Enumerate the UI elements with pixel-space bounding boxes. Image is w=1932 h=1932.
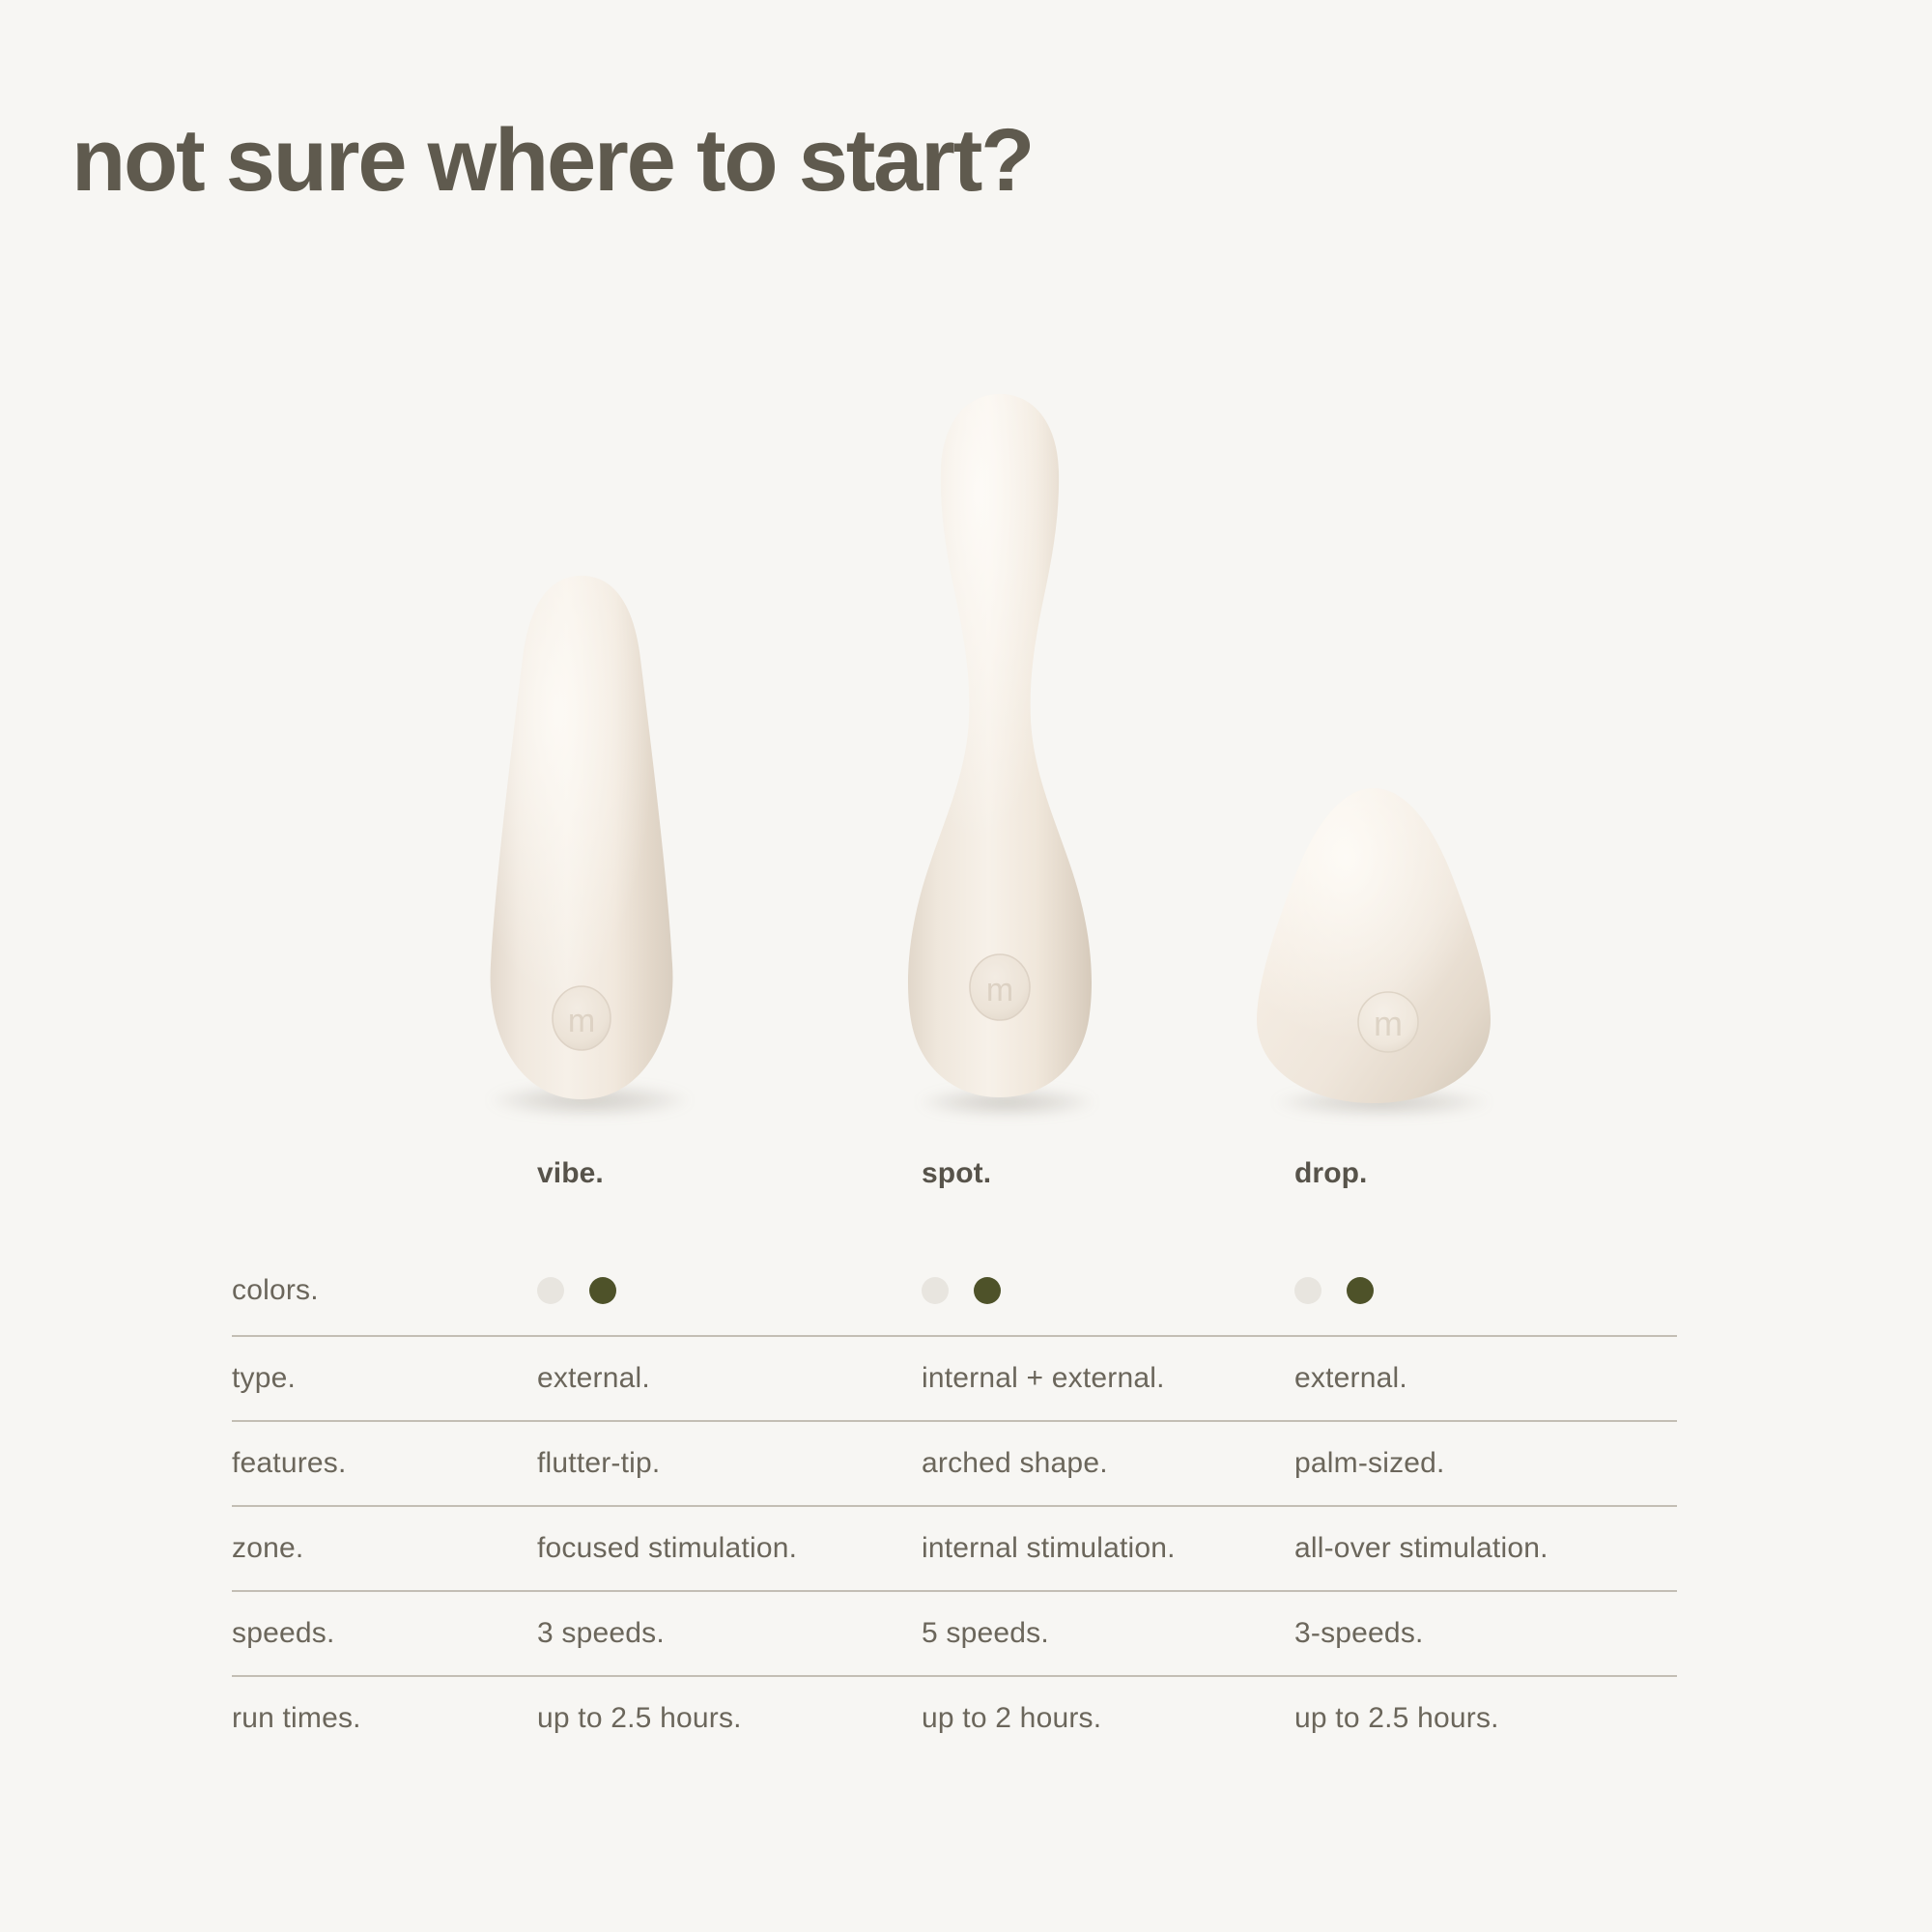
color-swatches-drop xyxy=(1294,1246,1374,1335)
cell-run-times-vibe: up to 2.5 hours. xyxy=(537,1677,742,1760)
svg-text:m: m xyxy=(986,972,1013,1009)
cell-type-vibe: external. xyxy=(537,1337,650,1420)
table-row: features. flutter-tip. arched shape. pal… xyxy=(232,1422,1677,1507)
table-row: colors. xyxy=(232,1246,1677,1337)
cell-speeds-drop: 3-speeds. xyxy=(1294,1592,1424,1675)
cell-zone-vibe: focused stimulation. xyxy=(537,1507,797,1590)
cell-features-drop: palm-sized. xyxy=(1294,1422,1445,1505)
drop-power-button: m xyxy=(1358,992,1418,1052)
vibe-shape-svg: m xyxy=(437,570,726,1111)
product-image-stage: m xyxy=(0,319,1932,1111)
row-label-features: features. xyxy=(232,1422,347,1505)
cell-type-spot: internal + external. xyxy=(922,1337,1165,1420)
spot-shape-svg: m xyxy=(874,388,1125,1111)
vibe-power-button: m xyxy=(553,986,611,1050)
row-label-type: type. xyxy=(232,1337,296,1420)
column-header-spot: spot. xyxy=(922,1157,991,1190)
product-image-vibe[interactable]: m xyxy=(437,570,726,1111)
table-row: run times. up to 2.5 hours. up to 2 hour… xyxy=(232,1677,1677,1760)
swatch-cream[interactable] xyxy=(537,1277,564,1304)
cell-speeds-vibe: 3 speeds. xyxy=(537,1592,665,1675)
table-row: type. external. internal + external. ext… xyxy=(232,1337,1677,1422)
page-title: not sure where to start? xyxy=(71,114,1033,208)
product-image-drop[interactable]: m xyxy=(1243,782,1504,1111)
cell-speeds-spot: 5 speeds. xyxy=(922,1592,1049,1675)
cell-type-drop: external. xyxy=(1294,1337,1407,1420)
color-swatches-vibe xyxy=(537,1246,616,1335)
row-label-speeds: speeds. xyxy=(232,1592,334,1675)
swatch-olive[interactable] xyxy=(974,1277,1001,1304)
swatch-olive[interactable] xyxy=(589,1277,616,1304)
product-image-spot[interactable]: m xyxy=(874,388,1125,1111)
spot-power-button: m xyxy=(970,954,1030,1020)
swatch-cream[interactable] xyxy=(922,1277,949,1304)
row-label-zone: zone. xyxy=(232,1507,303,1590)
cell-features-vibe: flutter-tip. xyxy=(537,1422,660,1505)
swatch-olive[interactable] xyxy=(1347,1277,1374,1304)
table-row: zone. focused stimulation. internal stim… xyxy=(232,1507,1677,1592)
row-label-colors: colors. xyxy=(232,1246,319,1335)
drop-shape-svg: m xyxy=(1243,782,1504,1111)
color-swatches-spot xyxy=(922,1246,1001,1335)
cell-zone-spot: internal stimulation. xyxy=(922,1507,1176,1590)
svg-text:m: m xyxy=(568,1003,595,1039)
cell-features-spot: arched shape. xyxy=(922,1422,1108,1505)
table-row: speeds. 3 speeds. 5 speeds. 3-speeds. xyxy=(232,1592,1677,1677)
row-label-run-times: run times. xyxy=(232,1677,361,1760)
spec-comparison-table: colors. type. external. internal + exter… xyxy=(232,1246,1677,1760)
cell-run-times-spot: up to 2 hours. xyxy=(922,1677,1101,1760)
svg-text:m: m xyxy=(1374,1004,1403,1043)
column-header-drop: drop. xyxy=(1294,1157,1368,1190)
swatch-cream[interactable] xyxy=(1294,1277,1321,1304)
cell-run-times-drop: up to 2.5 hours. xyxy=(1294,1677,1499,1760)
cell-zone-drop: all-over stimulation. xyxy=(1294,1507,1548,1590)
column-header-vibe: vibe. xyxy=(537,1157,604,1190)
